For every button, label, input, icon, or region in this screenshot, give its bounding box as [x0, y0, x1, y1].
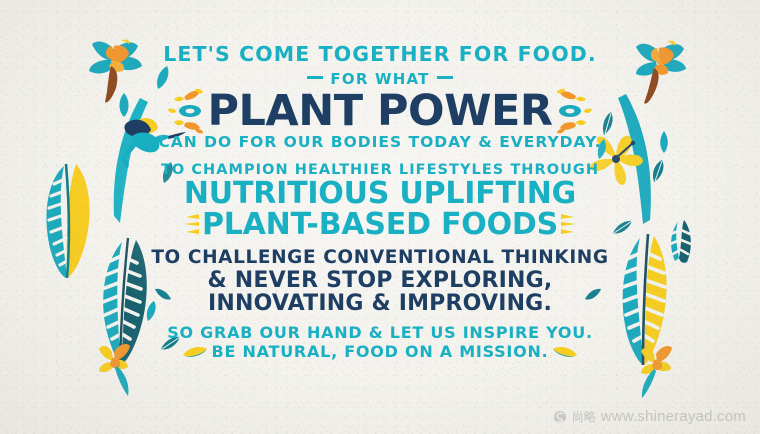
ray-left-icon: [183, 212, 199, 238]
headline-copy-block: LET'S COME TOGETHER FOR FOOD. FOR WHAT P…: [0, 44, 760, 362]
leaf-right-icon: [552, 345, 578, 359]
line-7: PLANT-BASED FOODS: [202, 210, 558, 240]
sunburst-right-icon: [556, 87, 598, 135]
line-4: CAN DO FOR OUR BODIES TODAY & EVERYDAY.: [0, 135, 760, 151]
leaf-left-icon: [182, 345, 208, 359]
line-12: BE NATURAL, FOOD ON A MISSION.: [212, 344, 549, 360]
dash-left: [307, 76, 323, 79]
closing-line-wrap: BE NATURAL, FOOD ON A MISSION.: [212, 344, 549, 360]
watermark-url: www.shinerayad.com: [601, 408, 746, 425]
shineray-logo-icon: [553, 410, 567, 424]
line-5: TO CHAMPION HEALTHIER LIFESTYLES THROUGH: [0, 163, 760, 178]
line-11: SO GRAB OUR HAND & LET US INSPIRE YOU.: [0, 325, 760, 341]
line-8: TO CHALLENGE CONVENTIONAL THINKING: [0, 249, 760, 268]
dash-right: [437, 76, 453, 79]
line-1: LET'S COME TOGETHER FOR FOOD.: [0, 44, 760, 65]
plant-based-line-wrap: PLANT-BASED FOODS: [202, 210, 558, 240]
sunburst-left-icon: [162, 87, 204, 135]
line-2: FOR WHAT: [0, 72, 760, 87]
line-6: NUTRITIOUS UPLIFTING: [0, 179, 760, 209]
line-2-label: FOR WHAT: [330, 70, 429, 88]
watermark: 尚略 www.shinerayad.com: [553, 408, 746, 425]
line-10: INNOVATING & IMPROVING.: [0, 293, 760, 315]
ray-right-icon: [561, 212, 577, 238]
watermark-brand-cn: 尚略: [572, 408, 596, 425]
line-9: & NEVER STOP EXPLORING,: [0, 270, 760, 292]
hero-line: PLANT POWER: [208, 91, 553, 132]
hero-line-wrap: PLANT POWER: [208, 91, 553, 132]
poster-canvas: LET'S COME TOGETHER FOR FOOD. FOR WHAT P…: [0, 0, 760, 434]
